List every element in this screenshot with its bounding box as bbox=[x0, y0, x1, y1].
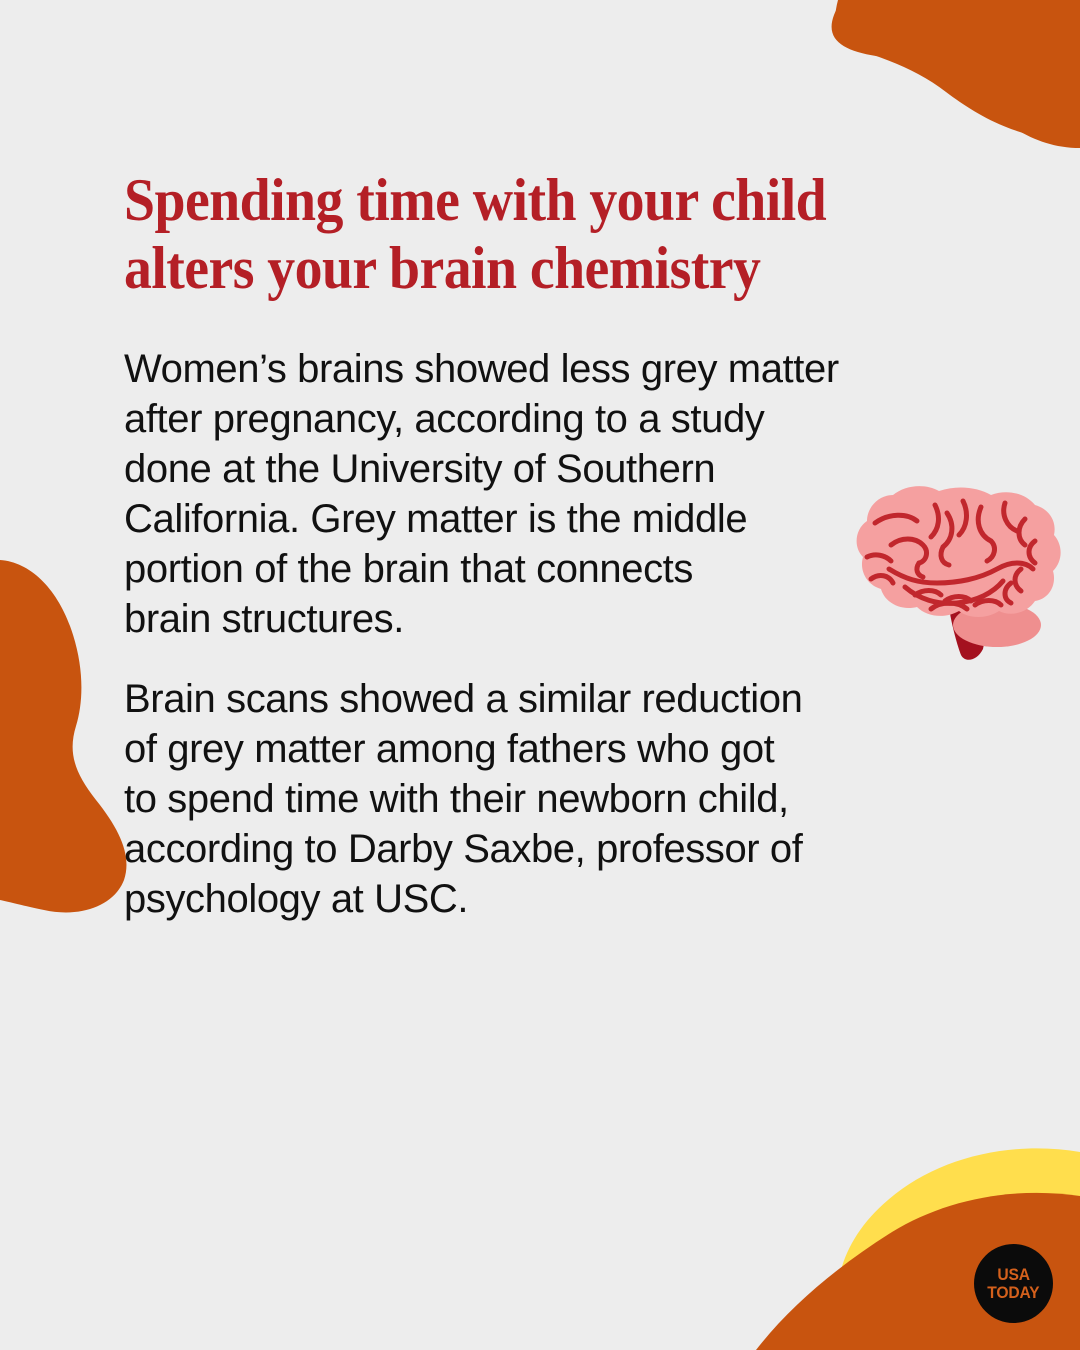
paragraph-2: Brain scans showed a similar reduction o… bbox=[124, 674, 954, 924]
paragraph-2-line-2: of grey matter among fathers who got bbox=[124, 724, 954, 774]
paragraph-1-line-2: after pregnancy, according to a study bbox=[124, 394, 954, 444]
paragraph-1-line-6: brain structures. bbox=[124, 594, 954, 644]
paragraph-2-line-1: Brain scans showed a similar reduction bbox=[124, 674, 954, 724]
top-right-orange-blob-shape bbox=[835, 0, 1080, 142]
paragraph-2-line-5: psychology at USC. bbox=[124, 874, 954, 924]
top-right-orange-blob bbox=[832, 0, 1080, 148]
body-copy: Women’s brains showed less grey matter a… bbox=[124, 344, 954, 924]
paragraph-2-line-4: according to Darby Saxbe, professor of bbox=[124, 824, 954, 874]
paragraph-1-line-1: Women’s brains showed less grey matter bbox=[124, 344, 954, 394]
headline: Spending time with your child alters you… bbox=[124, 166, 887, 302]
left-orange-blob bbox=[0, 560, 126, 912]
paragraph-2-line-3: to spend time with their newborn child, bbox=[124, 774, 954, 824]
brain-icon bbox=[845, 483, 1065, 663]
headline-line-2: alters your brain chemistry bbox=[124, 234, 887, 302]
paragraph-1-line-5: portion of the brain that connects bbox=[124, 544, 954, 594]
bottom-right-yellow-blob-body bbox=[840, 1148, 1080, 1274]
usa-today-logo-line-1: USA bbox=[997, 1266, 1029, 1283]
paragraph-1-line-4: California. Grey matter is the middle bbox=[124, 494, 954, 544]
social-card: Spending time with your child alters you… bbox=[0, 0, 1080, 1350]
usa-today-logo-line-2: TODAY bbox=[987, 1284, 1039, 1301]
headline-line-1: Spending time with your child bbox=[124, 166, 887, 234]
paragraph-1: Women’s brains showed less grey matter a… bbox=[124, 344, 954, 644]
bottom-right-yellow-blob bbox=[846, 1156, 1080, 1270]
paragraph-1-line-3: done at the University of Southern bbox=[124, 444, 954, 494]
usa-today-logo[interactable]: USA TODAY bbox=[974, 1244, 1053, 1323]
